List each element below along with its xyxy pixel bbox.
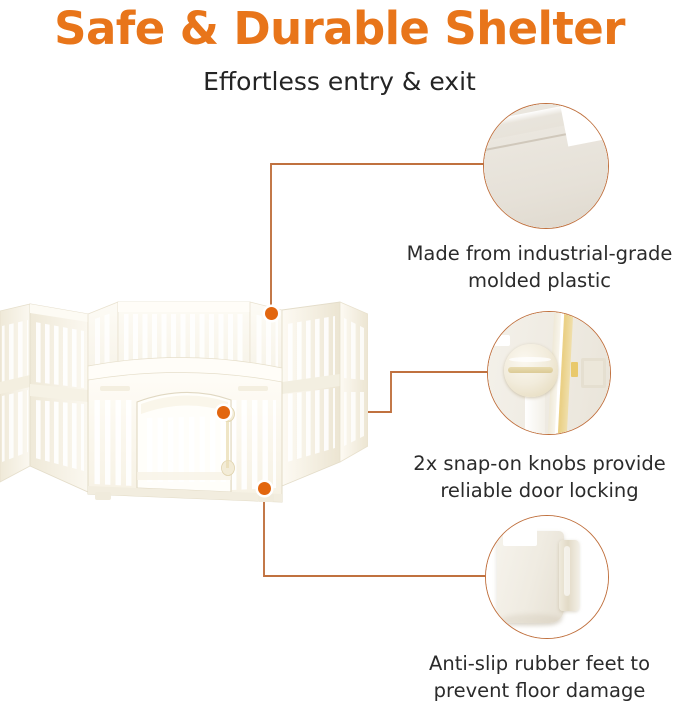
panel-far-right — [340, 302, 368, 462]
page-subtitle: Effortless entry & exit — [0, 66, 679, 98]
caption-line-1: Made from industrial-grade — [400, 240, 679, 267]
caption-line-2: reliable door locking — [400, 477, 679, 504]
callout-knobs-caption: 2x snap-on knobs provide reliable door l… — [400, 450, 679, 504]
panel-left — [30, 304, 88, 492]
gate-door — [137, 392, 231, 492]
caption-line-1: Anti-slip rubber feet to — [400, 650, 679, 677]
caption-line-2: molded plastic — [400, 267, 679, 294]
hotspot-dot-feet[interactable] — [258, 482, 271, 495]
page-title: Safe & Durable Shelter — [0, 2, 679, 56]
rubber-foot-left — [95, 492, 111, 500]
pet-playpen-illustration — [0, 296, 368, 526]
infographic-root: Safe & Durable Shelter Effortless entry … — [0, 0, 679, 712]
panel-far-left — [0, 304, 30, 482]
snap-on-knob-icon — [487, 311, 611, 435]
hotspot-dot-material[interactable] — [265, 307, 278, 320]
caption-line-1: 2x snap-on knobs provide — [400, 450, 679, 477]
anti-slip-rubber-foot-icon — [485, 515, 609, 639]
panel-front-gate — [88, 357, 282, 502]
molded-plastic-panel-icon — [483, 103, 609, 229]
callout-feet-caption: Anti-slip rubber feet to prevent floor d… — [400, 650, 679, 704]
caption-line-2: prevent floor damage — [400, 677, 679, 704]
callout-material-caption: Made from industrial-grade molded plasti… — [400, 240, 679, 294]
panel-right — [282, 302, 340, 486]
hotspot-dot-knobs[interactable] — [217, 406, 230, 419]
rubber-foot-right — [258, 494, 274, 502]
